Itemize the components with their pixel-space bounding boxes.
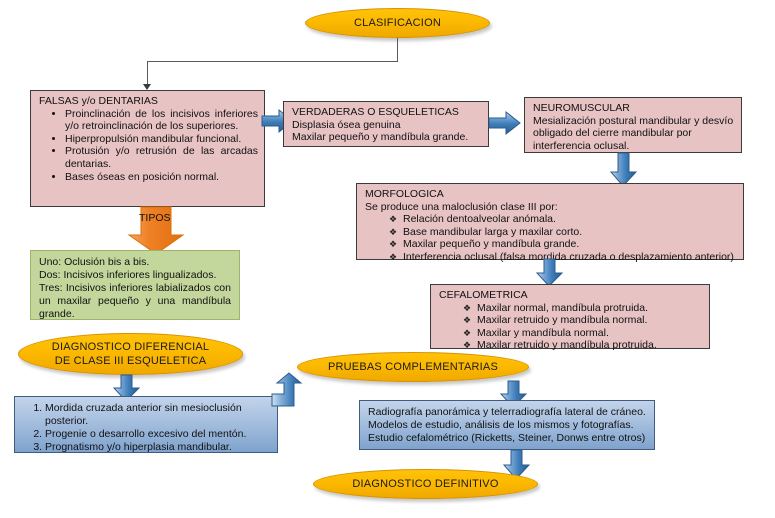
list-item: Proinclinación de los incisivos inferior… (65, 108, 258, 133)
detail-line: Displasia ósea genuina (292, 119, 482, 132)
node-diferencial-list: Mordida cruzada anterior sin mesioclusió… (23, 402, 269, 454)
connector-clasificacion-horizontal (147, 61, 398, 62)
node-clasificacion[interactable]: CLASIFICACION (305, 8, 490, 38)
list-item: Protusión y/o retrusión de las arcadas d… (65, 145, 258, 170)
list-item: Maxilar retruido y mandíbula protruida. (463, 339, 703, 352)
list-item: Relación dentoalveolar anómala. (389, 213, 737, 226)
detail-line: Estudio cefalométrico (Ricketts, Steiner… (368, 432, 646, 445)
node-diferencial-lista[interactable]: Mordida cruzada anterior sin mesioclusió… (14, 396, 278, 453)
arrow-lista-to-pruebas (272, 373, 312, 409)
flowchart-canvas: CLASIFICACION FALSAS y/o DENTARIAS Proin… (0, 0, 775, 518)
detail-line: Maxilar pequeño y mandíbula grande. (292, 131, 482, 144)
node-morfologica-subtitle: Se produce una maloclusión clase III por… (365, 201, 737, 214)
node-pruebas-complementarias[interactable]: PRUEBAS COMPLEMENTARIAS (297, 352, 529, 382)
node-verdaderas-esqueleticas[interactable]: VERDADERAS O ESQUELETICAS Displasia ósea… (283, 101, 489, 147)
node-falsas-list: Proinclinación de los incisivos inferior… (39, 108, 258, 184)
node-cefalometrica[interactable]: CEFALOMETRICA Maxilar normal, mandíbula … (430, 284, 710, 349)
node-verdaderas-title: VERDADERAS O ESQUELETICAS (292, 106, 482, 119)
list-item: Mordida cruzada anterior sin mesioclusió… (45, 402, 269, 428)
list-item: Hiperpropulsión mandibular funcional. (65, 133, 258, 146)
node-cefalometrica-list: Maxilar normal, mandíbula protruida. Max… (439, 302, 703, 352)
arrow-morfologica-to-cefalometrica (536, 259, 564, 287)
node-diagnostico-diferencial-line2: DE CLASE III ESQUELETICA (55, 354, 207, 368)
node-morfologica-title: MORFOLOGICA (365, 188, 737, 201)
node-neuromuscular[interactable]: NEUROMUSCULAR Mesialización postural man… (524, 97, 742, 153)
list-item: Base mandibular larga y maxilar corto. (389, 226, 737, 239)
detail-line: Radiografía panorámica y telerradiografí… (368, 406, 646, 419)
list-item: Maxilar pequeño y mandíbula grande. (389, 238, 737, 251)
list-item: Progenie o desarrollo excesivo del mentó… (45, 428, 269, 441)
node-pruebas-label: PRUEBAS COMPLEMENTARIAS (328, 360, 498, 374)
node-morfologica-list: Relación dentoalveolar anómala. Base man… (365, 213, 737, 263)
connector-clasificacion-drop (147, 61, 148, 85)
node-diagnostico-definitivo[interactable]: DIAGNOSTICO DEFINITIVO (313, 469, 538, 499)
detail-line: Dos: Incisivos inferiores lingualizados. (39, 269, 231, 282)
list-item: Maxilar retruido y mandíbula normal. (463, 314, 703, 327)
node-tipos-detalle[interactable]: Uno: Oclusión bis a bis. Dos: Incisivos … (30, 250, 240, 320)
arrow-neuromuscular-to-morfologica (610, 153, 638, 187)
node-cefalometrica-title: CEFALOMETRICA (439, 289, 703, 302)
node-tipos-label: TIPOS (139, 212, 171, 224)
arrow-verdaderas-to-neuromuscular (489, 110, 521, 136)
detail-line: Uno: Oclusión bis a bis. (39, 256, 231, 269)
node-morfologica[interactable]: MORFOLOGICA Se produce una maloclusión c… (356, 183, 744, 260)
node-falsas-title: FALSAS y/o DENTARIAS (39, 95, 258, 108)
list-item: Bases óseas en posición normal. (65, 171, 258, 184)
node-clasificacion-label: CLASIFICACION (354, 16, 441, 30)
list-item: Prognatismo y/o hiperplasia mandibular. (45, 441, 269, 454)
list-item: Maxilar normal, mandíbula protruida. (463, 302, 703, 315)
node-falsas-dentarias[interactable]: FALSAS y/o DENTARIAS Proinclinación de l… (30, 90, 265, 207)
node-diagnostico-definitivo-label: DIAGNOSTICO DEFINITIVO (352, 477, 498, 491)
detail-line: Modelos de estudio, análisis de los mism… (368, 419, 646, 432)
node-neuromuscular-title: NEUROMUSCULAR (533, 102, 735, 115)
node-diagnostico-diferencial[interactable]: DIAGNOSTICO DIFERENCIAL DE CLASE III ESQ… (18, 333, 243, 375)
node-pruebas-detalle[interactable]: Radiografía panorámica y telerradiografí… (359, 400, 655, 450)
connector-clasificacion-vertical (397, 38, 398, 61)
detail-line: Tres: Incisivos inferiores labializados … (39, 282, 231, 321)
list-item: Maxilar y mandíbula normal. (463, 327, 703, 340)
detail-line: Mesialización postural mandibular y desv… (533, 115, 735, 153)
node-diagnostico-diferencial-line1: DIAGNOSTICO DIFERENCIAL (52, 340, 209, 354)
